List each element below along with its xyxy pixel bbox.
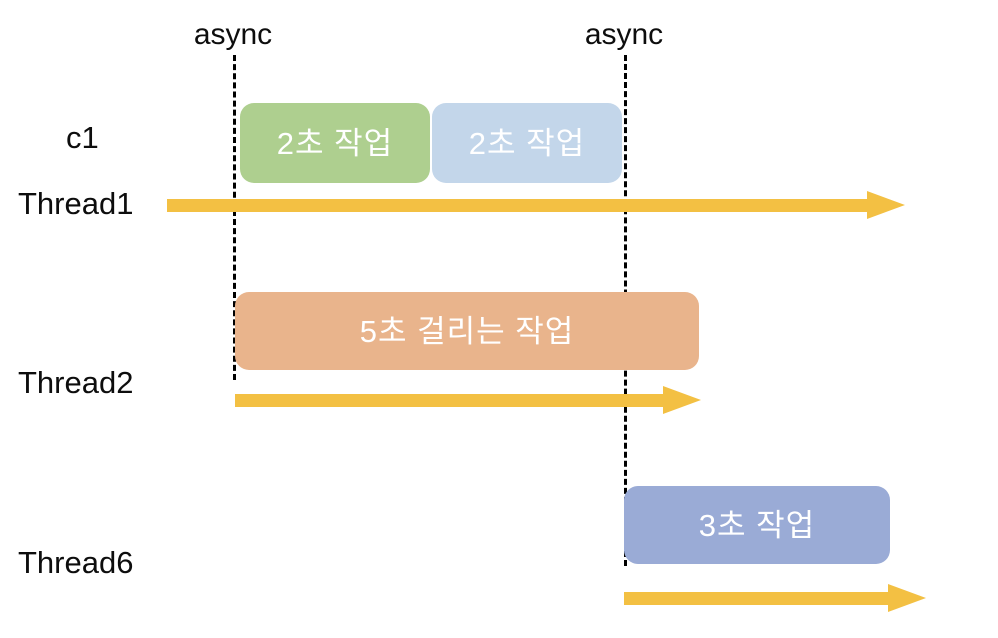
lane-label-thread1: Thread1 xyxy=(18,186,133,222)
lane-label-thread6: Thread6 xyxy=(18,545,133,581)
task-block-thread1-blue: 2초 작업 xyxy=(432,103,622,183)
lane-label-thread2: Thread2 xyxy=(18,365,133,401)
task-block-thread1-green: 2초 작업 xyxy=(240,103,430,183)
task-block-label: 3초 작업 xyxy=(699,510,815,541)
task-block-label: 2초 작업 xyxy=(277,128,393,159)
async-label-right: async xyxy=(574,18,674,52)
task-block-thread6-periwinkle: 3초 작업 xyxy=(624,486,890,564)
timeline-arrow-thread6 xyxy=(624,581,928,615)
task-block-label: 2초 작업 xyxy=(469,128,585,159)
timeline-arrow-thread2 xyxy=(235,383,703,417)
async-label-left: async xyxy=(183,18,283,52)
diagram-canvas: async async c1 Thread1 2초 작업 2초 작업 Threa… xyxy=(0,0,998,638)
task-block-thread2-orange: 5초 걸리는 작업 xyxy=(235,292,699,370)
task-block-label: 5초 걸리는 작업 xyxy=(360,316,575,347)
context-label-c1: c1 xyxy=(66,120,99,156)
timeline-arrow-thread1 xyxy=(167,188,907,222)
